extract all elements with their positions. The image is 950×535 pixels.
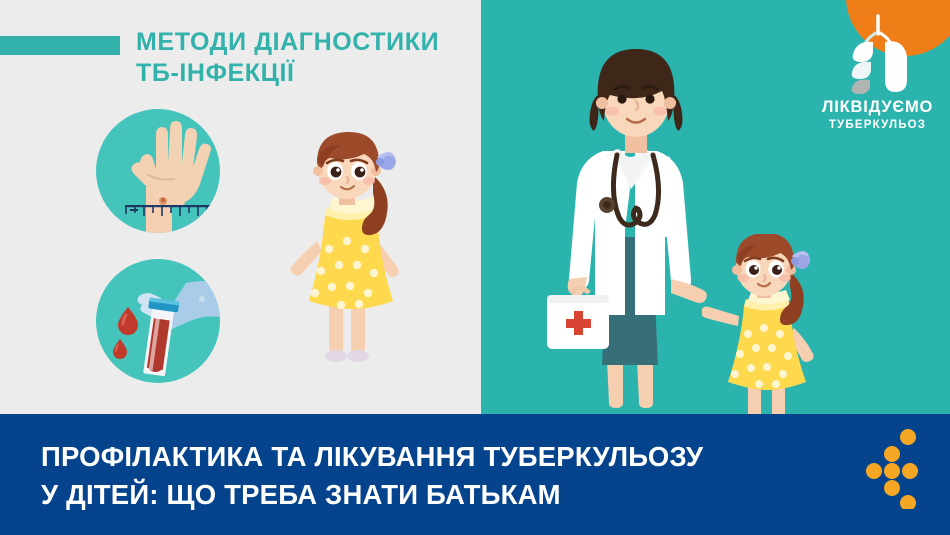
girl-yellow-dress-icon (702, 234, 825, 414)
logo-subtitle: ТУБЕРКУЛЬОЗ (812, 119, 943, 131)
banner-headline-line1: ПРОФІЛАКТИКА ТА ЛІКУВАННЯ ТУБЕРКУЛЬОЗУ (41, 441, 703, 472)
orange-corner-circle (846, 0, 950, 56)
blood-test-circle (96, 259, 220, 383)
blood-test-tube-icon (96, 259, 220, 383)
girl-yellow-dress-icon (281, 123, 406, 366)
banner-headline: ПРОФІЛАКТИКА ТА ЛІКУВАННЯ ТУБЕРКУЛЬОЗУ У… (41, 438, 831, 514)
right-panel: ЛІКВІДУЄМО ТУБЕРКУЛЬОЗ (481, 0, 950, 414)
first-aid-kit-icon (547, 288, 609, 349)
female-doctor-icon (541, 43, 727, 414)
left-panel: МЕТОДИ ДІАГНОСТИКИ ТБ-ІНФЕКЦІЇ (0, 0, 481, 414)
banner-headline-line2: У ДІТЕЙ: ЩО ТРЕБА ЗНАТИ БАТЬКАМ (41, 476, 831, 514)
logo-title: ЛІКВІДУЄМО (812, 98, 943, 117)
panel-title: МЕТОДИ ДІАГНОСТИКИ ТБ-ІНФЕКЦІЇ (136, 27, 466, 89)
poster-root: МЕТОДИ ДІАГНОСТИКИ ТБ-ІНФЕКЦІЇ (0, 0, 950, 535)
mantoux-test-circle (96, 109, 220, 233)
panel-title-line1: МЕТОДИ ДІАГНОСТИКИ (136, 28, 439, 56)
bottom-banner: ПРОФІЛАКТИКА ТА ЛІКУВАННЯ ТУБЕРКУЛЬОЗУ У… (0, 414, 950, 535)
orange-dots-pattern (864, 427, 936, 509)
teal-accent-bar (0, 36, 120, 55)
panel-title-line2: ТБ-ІНФЕКЦІЇ (136, 58, 466, 89)
hand-with-ruler-icon (96, 109, 220, 233)
